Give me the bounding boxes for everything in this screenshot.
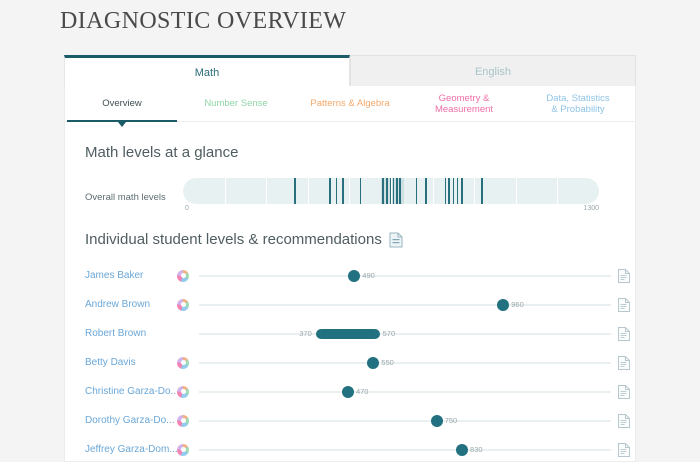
distribution-divider [516, 178, 517, 204]
student-row: Andrew Brown960 [85, 290, 636, 319]
distribution-divider [308, 178, 309, 204]
subtab-geometry[interactable]: Geometry & Measurement [407, 86, 521, 121]
track-line [199, 304, 611, 306]
track-line [199, 449, 611, 451]
subtab-number[interactable]: Number Sense [179, 86, 293, 121]
distribution-tick [448, 178, 450, 204]
strand-subtabs[interactable]: OverviewNumber SensePatterns & AlgebraGe… [65, 86, 635, 122]
student-row: Jeffrey Garza-Dom...830 [85, 435, 636, 462]
student-report-cell [611, 443, 636, 457]
subtab-data[interactable]: Data, Statistics& Probability [521, 86, 635, 121]
track-line [199, 362, 611, 364]
range-high-label: 570 [383, 329, 396, 338]
tab-english[interactable]: English [350, 55, 636, 87]
subtab-patterns[interactable]: Patterns & Algebra [293, 86, 407, 121]
student-row: James Baker490 [85, 261, 636, 290]
student-report-cell [611, 414, 636, 428]
distribution-tick [294, 178, 296, 204]
student-report-icon[interactable] [618, 385, 630, 399]
distribution-tick [336, 178, 338, 204]
student-report-cell [611, 327, 636, 341]
level-value-label: 750 [445, 416, 458, 425]
level-marker[interactable] [497, 299, 509, 311]
distribution-divider [349, 178, 350, 204]
range-low-label: 370 [299, 329, 312, 338]
student-name-link[interactable]: Jeffrey Garza-Dom... [85, 444, 177, 455]
student-level-track[interactable]: 470 [199, 382, 611, 402]
distribution-tick [342, 178, 344, 204]
student-pie-cell [177, 299, 199, 311]
distribution-tick [360, 178, 362, 204]
level-value-label: 960 [511, 300, 524, 309]
level-value-label: 550 [381, 358, 394, 367]
student-level-track[interactable]: 830 [199, 440, 611, 460]
tab-math[interactable]: Math [64, 55, 350, 87]
level-marker[interactable] [348, 270, 360, 282]
distribution-divider [474, 178, 475, 204]
scale-max-label: 1300 [583, 205, 599, 212]
subtab-label: Data, Statistics [546, 93, 609, 104]
subject-tabs[interactable]: MathEnglish [64, 55, 636, 87]
student-row: Christine Garza-Do...470 [85, 377, 636, 406]
distribution-chart: 0 1300 [183, 178, 599, 217]
student-name-link[interactable]: Dorothy Garza-Do... [85, 415, 177, 426]
student-report-icon[interactable] [618, 327, 630, 341]
level-range-bar[interactable] [316, 329, 379, 339]
distribution-divider [433, 178, 434, 204]
student-level-track[interactable]: 370570 [199, 324, 611, 344]
level-marker[interactable] [431, 415, 443, 427]
distribution-scale: 0 1300 [183, 205, 599, 217]
level-marker[interactable] [342, 386, 354, 398]
track-line [199, 420, 611, 422]
track-line [199, 333, 611, 335]
subtab-label: & Probability [551, 104, 604, 115]
pie-chart-icon[interactable] [177, 357, 189, 369]
distribution-tick [399, 178, 401, 204]
student-pie-cell [177, 270, 199, 282]
overview-card: OverviewNumber SensePatterns & AlgebraGe… [64, 86, 636, 462]
student-report-icon[interactable] [618, 356, 630, 370]
pie-chart-icon[interactable] [177, 444, 189, 456]
report-icon[interactable] [389, 232, 403, 248]
distribution-tick [481, 178, 483, 204]
student-list: James Baker490Andrew Brown960Robert Brow… [85, 261, 636, 462]
student-pie-cell [177, 444, 199, 456]
pie-chart-icon[interactable] [177, 386, 189, 398]
student-report-icon[interactable] [618, 443, 630, 457]
scale-min-label: 0 [185, 205, 189, 212]
tab-label: English [475, 66, 511, 78]
distribution-tick [329, 178, 331, 204]
subtab-label: Geometry & Measurement [409, 93, 519, 115]
distribution-tick [425, 178, 427, 204]
student-name-link[interactable]: Christine Garza-Do... [85, 386, 177, 397]
level-marker[interactable] [367, 357, 379, 369]
distribution-tick [396, 178, 398, 204]
overall-levels-label: Overall math levels [85, 192, 183, 203]
subtab-label: Overview [102, 98, 142, 109]
pie-chart-icon[interactable] [177, 299, 189, 311]
student-row: Dorothy Garza-Do...750 [85, 406, 636, 435]
distribution-tick [457, 178, 459, 204]
level-value-label: 470 [356, 387, 369, 396]
student-row: Betty Davis550 [85, 348, 636, 377]
student-level-track[interactable]: 960 [199, 295, 611, 315]
distribution-divider [557, 178, 558, 204]
distribution-tick [393, 178, 395, 204]
glance-heading-label: Math levels at a glance [85, 144, 238, 161]
glance-heading: Math levels at a glance [85, 144, 238, 161]
student-row: Robert Brown370570 [85, 319, 636, 348]
tab-label: Math [195, 67, 219, 79]
student-report-cell [611, 298, 636, 312]
distribution-divider [266, 178, 267, 204]
student-pie-cell [177, 415, 199, 427]
chevron-down-icon [118, 122, 126, 127]
student-name-link[interactable]: Robert Brown [85, 328, 177, 339]
subtab-label: Number Sense [204, 98, 267, 109]
distribution-tick [386, 178, 388, 204]
student-report-cell [611, 269, 636, 283]
distribution-tick [453, 178, 455, 204]
level-value-label: 490 [362, 271, 375, 280]
student-pie-cell [177, 357, 199, 369]
student-name-link[interactable]: James Baker [85, 270, 177, 281]
student-level-track[interactable]: 550 [199, 353, 611, 373]
student-level-track[interactable]: 750 [199, 411, 611, 431]
student-name-link[interactable]: Betty Davis [85, 357, 177, 368]
level-value-label: 830 [470, 445, 483, 454]
distribution-tick [390, 178, 392, 204]
student-pie-cell [177, 386, 199, 398]
individual-heading: Individual student levels & recommendati… [85, 231, 403, 248]
pie-chart-icon[interactable] [177, 270, 189, 282]
subtab-label: Patterns & Algebra [310, 98, 389, 109]
subtab-overview[interactable]: Overview [65, 86, 179, 121]
student-name-link[interactable]: Andrew Brown [85, 299, 177, 310]
track-line [199, 275, 611, 277]
page-title: DIAGNOSTIC OVERVIEW [60, 8, 346, 35]
individual-heading-label: Individual student levels & recommendati… [85, 231, 382, 248]
distribution-tick [461, 178, 463, 204]
level-marker[interactable] [456, 444, 468, 456]
student-report-cell [611, 385, 636, 399]
student-report-icon[interactable] [618, 298, 630, 312]
distribution-bar[interactable] [183, 178, 599, 204]
student-report-cell [611, 356, 636, 370]
pie-chart-icon[interactable] [177, 415, 189, 427]
distribution-tick [416, 178, 418, 204]
student-report-icon[interactable] [618, 414, 630, 428]
distribution-divider [225, 178, 226, 204]
overall-levels-row: Overall math levels 0 1300 [85, 178, 617, 217]
distribution-tick [382, 178, 384, 204]
student-report-icon[interactable] [618, 269, 630, 283]
track-line [199, 391, 611, 393]
student-level-track[interactable]: 490 [199, 266, 611, 286]
distribution-tick [445, 178, 447, 204]
